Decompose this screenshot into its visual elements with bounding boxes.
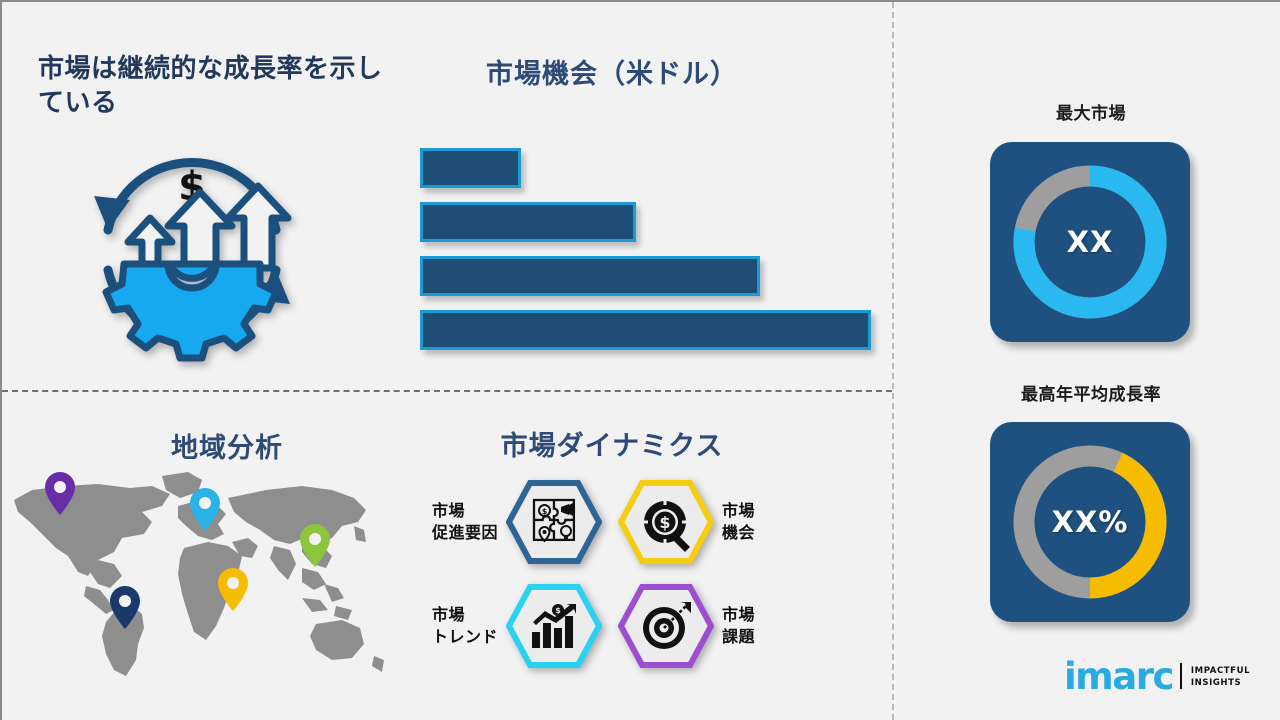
dynamics-label-trends: 市場 トレンド (432, 604, 498, 647)
map-pin-east-asia (300, 524, 330, 567)
map-pin-north-america (45, 472, 75, 515)
dynamics-label-drivers: 市場 促進要因 (432, 500, 498, 543)
bar-chart-growth-icon: $ (506, 584, 602, 668)
vertical-divider (892, 2, 894, 720)
growth-heading: 市場は継続的な成長率を示している (38, 52, 388, 121)
map-pin-europe (190, 488, 220, 531)
dynamics-item-challenges[interactable]: 市場 課題 (618, 584, 818, 668)
bar-1 (420, 148, 521, 188)
puzzle-drivers-icon: $ (506, 480, 602, 564)
kpi-title-largest-market: 最大市場 (962, 99, 1220, 124)
kpi-value-highest-cagr: XX% (1052, 505, 1129, 539)
dynamics-grid: 市場 促進要因 $ (406, 480, 818, 680)
dynamics-item-drivers[interactable]: 市場 促進要因 $ (406, 480, 602, 564)
kpi-title-highest-cagr: 最高年平均成長率 (957, 380, 1225, 405)
dynamics-heading: 市場ダイナミクス (402, 424, 822, 463)
logo-tagline: IMPACTFUL INSIGHTS (1191, 666, 1250, 693)
bar-2 (420, 202, 636, 242)
region-heading: 地域分析 (122, 426, 332, 465)
bar-4 (420, 310, 871, 350)
dynamics-label-opportunity: 市場 機会 (722, 500, 755, 543)
target-arrow-icon (618, 584, 714, 668)
kpi-card-highest-cagr: XX% (990, 422, 1190, 622)
opportunity-heading: 市場機会（米ドル） (402, 52, 822, 91)
dynamics-item-opportunity[interactable]: $ 市場 機会 (618, 480, 818, 564)
map-pin-south-america (110, 586, 140, 629)
logo-wordmark: imarc (1064, 660, 1173, 693)
logo-divider (1180, 663, 1182, 689)
bar-3 (420, 256, 760, 296)
svg-text:$: $ (659, 513, 670, 532)
map-pin-middle-east-africa (218, 568, 248, 611)
horizontal-divider (2, 390, 892, 392)
kpi-card-largest-market: XX (990, 142, 1190, 342)
infographic-slide: 市場は継続的な成長率を示している $ 市場機会（ (2, 2, 1280, 720)
growth-cycle-gear-arrows-icon: $ (72, 134, 312, 366)
dynamics-label-challenges: 市場 課題 (722, 604, 755, 647)
imarc-logo[interactable]: imarc IMPACTFUL INSIGHTS (1064, 660, 1250, 693)
dynamics-item-trends[interactable]: 市場 トレンド $ (406, 584, 602, 668)
magnifier-dollar-icon: $ (618, 480, 714, 564)
svg-text:$: $ (542, 507, 548, 516)
svg-text:$: $ (555, 606, 561, 615)
world-map-icon (2, 464, 402, 689)
kpi-value-largest-market: XX (1067, 225, 1114, 259)
opportunity-bar-chart (420, 148, 880, 350)
